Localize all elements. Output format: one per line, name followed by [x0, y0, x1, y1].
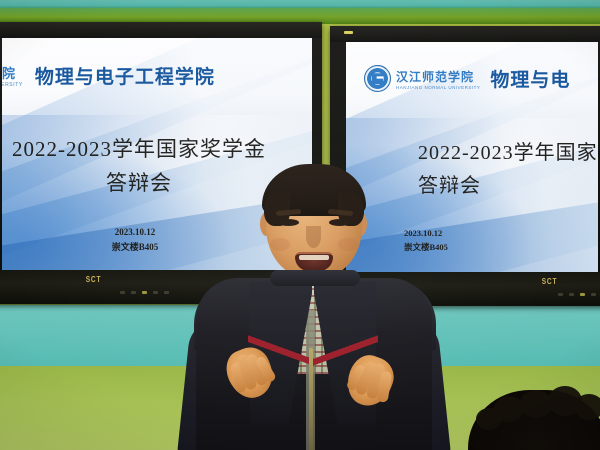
speaker-jacket-collar [270, 270, 360, 286]
university-name-cn: 师范学院 [2, 63, 23, 82]
university-logo: 师范学院 NORMAL UNIVERSITY [2, 63, 23, 88]
university-name-en: HANJIANG NORMAL UNIVERSITY [396, 85, 480, 90]
slide-header: 汉江师范学院 HANJIANG NORMAL UNIVERSITY 物理与电 [346, 42, 598, 116]
right-display-bezel-top [330, 26, 600, 42]
slide-location: 崇文楼B405 [404, 241, 598, 253]
power-led-icon [344, 31, 353, 34]
speaker-cheek-right [338, 238, 358, 251]
speaker-mouth [295, 252, 333, 271]
university-seal-icon [364, 65, 391, 92]
slide-title-line1: 2022-2023学年国家奖学金 [2, 133, 312, 163]
left-display-brand: SCT [86, 275, 102, 284]
right-display-controls[interactable] [558, 292, 600, 296]
speaker-person [198, 160, 428, 450]
slide-header: 师范学院 NORMAL UNIVERSITY 物理与电子工程学院 [2, 38, 312, 112]
photo-scene: 师范学院 NORMAL UNIVERSITY 物理与电子工程学院 2022-20… [0, 0, 600, 450]
left-display-controls[interactable] [120, 290, 169, 294]
right-display-brand: SCT [542, 277, 558, 286]
speaker-jacket-zipper [309, 348, 313, 450]
speaker-eye-right [329, 219, 350, 226]
hair-curl [520, 390, 552, 418]
university-logo: 汉江师范学院 HANJIANG NORMAL UNIVERSITY [364, 65, 480, 92]
speaker-teeth [299, 255, 329, 260]
university-name-cn: 汉江师范学院 [396, 68, 480, 85]
slide-title-line1: 2022-2023学年国家 [418, 136, 598, 165]
left-display-bezel-top [0, 22, 322, 38]
audience-member [468, 384, 600, 450]
college-name: 物理与电子工程学院 [35, 62, 215, 89]
university-name-en: NORMAL UNIVERSITY [2, 82, 23, 88]
speaker-nose [306, 226, 321, 248]
college-name: 物理与电 [490, 65, 570, 92]
hair-curl [574, 394, 600, 420]
speaker-cheek-left [270, 238, 290, 251]
slide-title-line2: 答辩会 [418, 169, 598, 198]
speaker-eye-left [278, 219, 299, 226]
slide-date: 2023.10.12 [404, 228, 598, 238]
speaker-hair [262, 164, 366, 216]
